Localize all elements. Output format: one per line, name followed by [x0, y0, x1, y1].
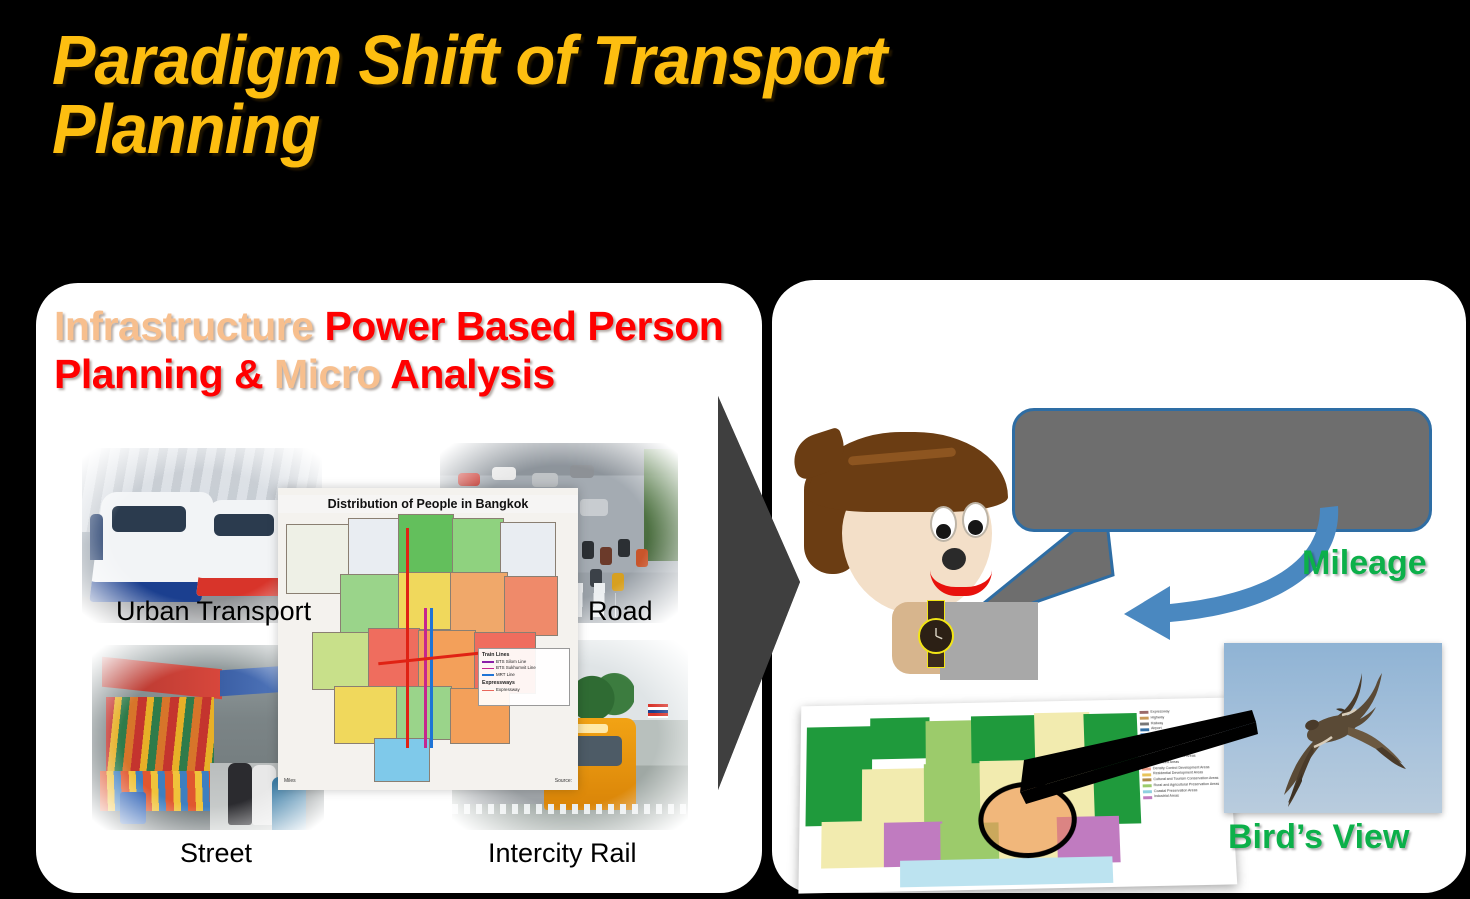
legend-title: Train Lines	[482, 652, 566, 658]
page-title: Paradigm Shift of Transport Planning	[52, 26, 1149, 163]
heading-micro: Micro	[274, 351, 390, 397]
heading-power-based-person: Power Based Person	[324, 303, 723, 349]
label-mileage: Mileage	[1302, 544, 1427, 583]
map-legend: Train Lines BTS Silom Line BTS Sukhumvit…	[478, 648, 570, 706]
zoom-connector-lines	[1020, 700, 1300, 820]
heading-planning: Planning &	[54, 351, 274, 397]
mileage-arrow	[1020, 490, 1350, 660]
heading-analysis: Analysis	[390, 351, 555, 397]
map-scale: Miles	[284, 778, 296, 784]
caption-intercity-rail: Intercity Rail	[488, 838, 637, 869]
legend-title-2: Expressways	[482, 680, 566, 686]
paradigm-shift-arrow	[640, 370, 820, 822]
label-birds-view: Bird’s View	[1228, 818, 1409, 857]
legend-item2-0: Expressway	[496, 687, 520, 693]
heading-infrastructure: Infrastructure	[54, 303, 324, 349]
traveler-avatar	[790, 412, 1050, 680]
wristwatch-icon	[918, 618, 954, 654]
legend-item-2: MRT Line	[496, 672, 515, 678]
caption-street: Street	[180, 838, 252, 869]
bangkok-density-map: Distribution of People in Bangkok Train …	[278, 488, 578, 790]
map-title: Distribution of People in Bangkok	[278, 495, 578, 513]
pupil-left	[936, 524, 951, 539]
pupil-right	[968, 520, 983, 535]
map-source: Source:	[555, 778, 572, 784]
caption-urban-transport: Urban Transport	[116, 596, 311, 627]
